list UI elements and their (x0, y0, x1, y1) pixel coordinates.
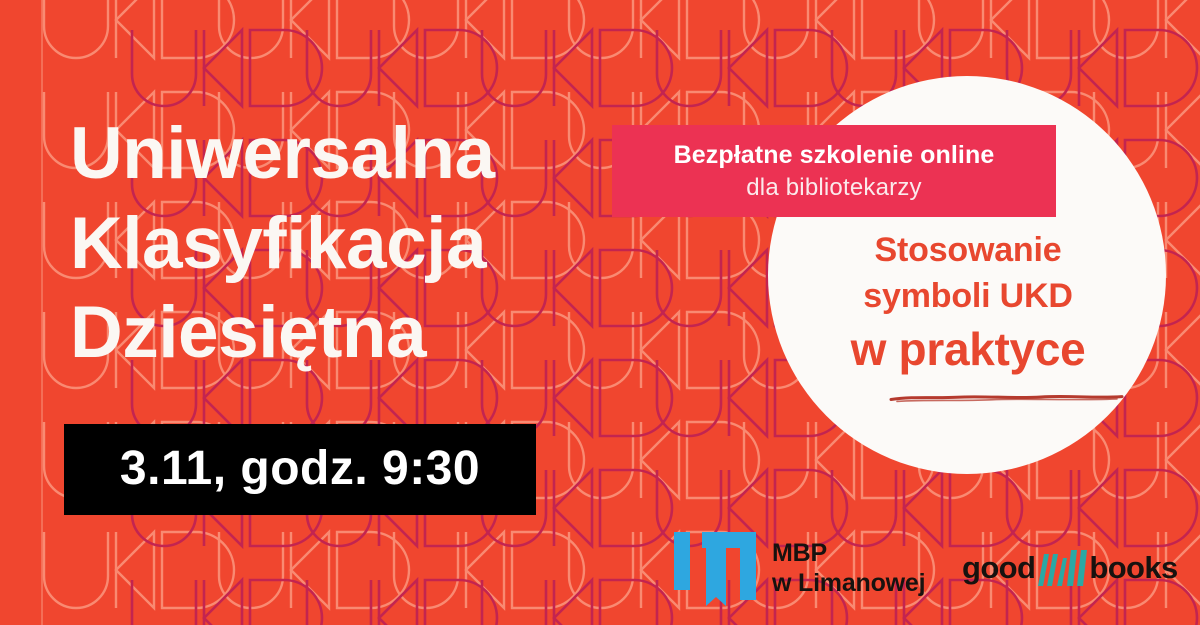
page-title: Uniwersalna Klasyfikacja Dziesiętna (70, 109, 630, 378)
logo-mbp-limanowa: MBP w Limanowej (672, 528, 925, 608)
handdrawn-underline-icon (889, 392, 1125, 406)
event-date-text: 3.11, godz. 9:30 (120, 445, 480, 493)
goodbooks-word-right: books (1089, 552, 1177, 583)
promo-poster: Uniwersalna Klasyfikacja Dziesiętna 3.11… (0, 0, 1200, 625)
headline-line-2: Klasyfikacja (70, 199, 630, 289)
headline-line-1: Uniwersalna (70, 109, 630, 199)
goodbooks-shelf-icon (1036, 548, 1088, 586)
mbp-logo-icon (672, 528, 758, 608)
callout-line-2: symboli UKD (780, 274, 1156, 320)
goodbooks-word-left: good (962, 552, 1035, 583)
headline-line-3: Dziesiętna (70, 288, 630, 378)
callout-line-1: Stosowanie (780, 228, 1156, 274)
event-date-badge: 3.11, godz. 9:30 (64, 424, 536, 515)
logo-goodbooks: good books (962, 548, 1178, 586)
callout-line-3: w praktyce (780, 321, 1156, 377)
training-banner: Bezpłatne szkolenie online dla bibliotek… (612, 125, 1056, 217)
training-banner-subtitle: dla bibliotekarzy (746, 173, 922, 203)
callout-copy: Stosowanie symboli UKD w praktyce (780, 228, 1156, 377)
mbp-logo-line-1: MBP (772, 538, 925, 569)
mbp-logo-line-2: w Limanowej (772, 568, 925, 599)
training-banner-headline: Bezpłatne szkolenie online (674, 141, 995, 170)
mbp-logo-text: MBP w Limanowej (772, 538, 925, 599)
